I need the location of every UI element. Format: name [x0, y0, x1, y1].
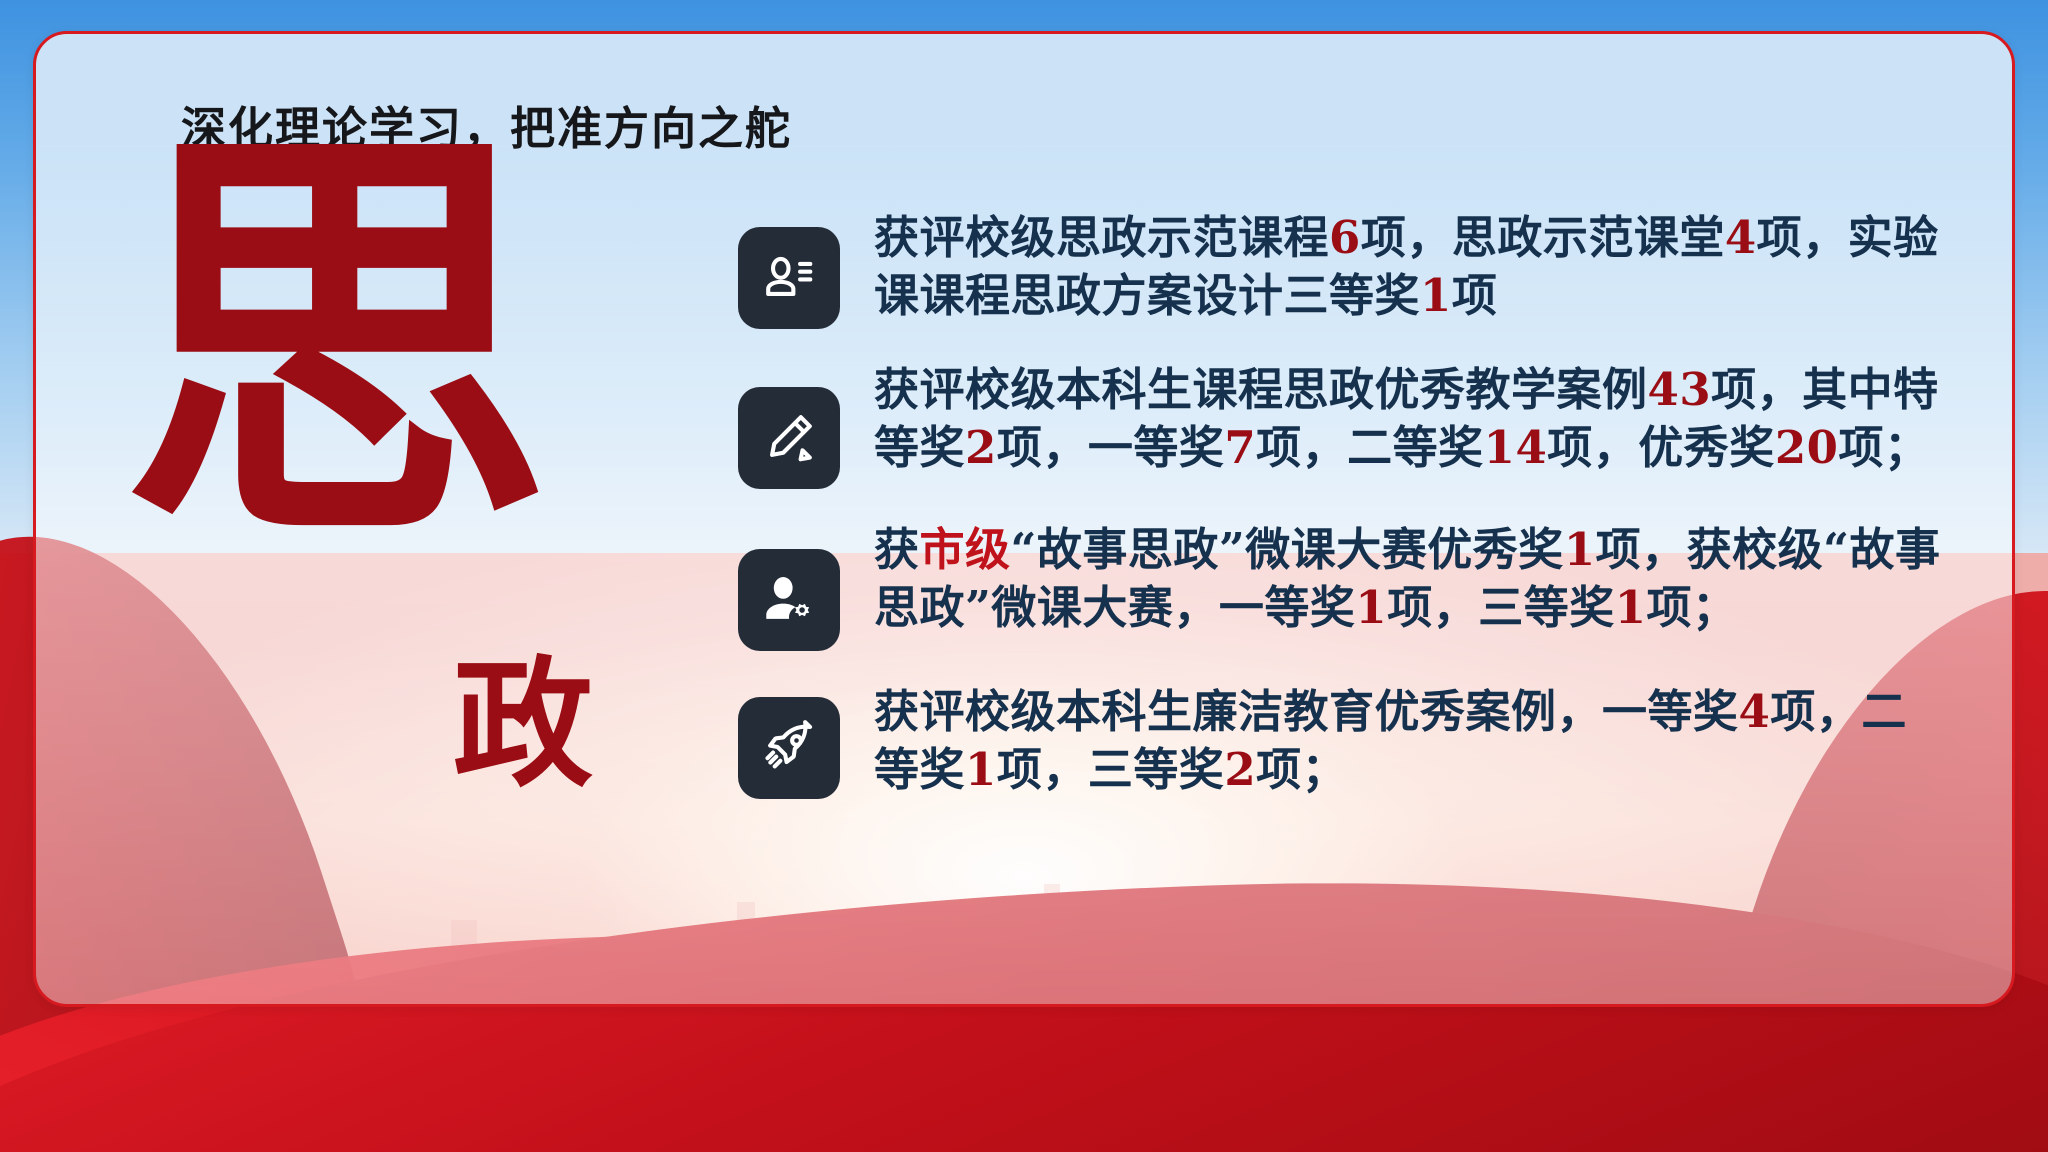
count-value: 14 [1484, 421, 1548, 474]
count-value: 4 [1725, 211, 1757, 264]
body-text: 项，优秀奖 [1547, 421, 1775, 474]
sub-character-zheng: 政 [453, 656, 593, 796]
body-text: 项，二等奖 [1256, 421, 1484, 474]
count-value: 6 [1329, 211, 1361, 264]
body-text: 项，三等奖 [997, 743, 1225, 796]
body-text: 获 [874, 523, 920, 576]
count-value: 1 [1355, 581, 1387, 634]
emphasis-text: 市级 [920, 523, 1011, 576]
body-text: “故事思政”微课大赛优秀奖 [1011, 523, 1564, 576]
rocket-icon [738, 697, 840, 799]
achievement-list: 获评校级思政示范课程6项，思政示范课堂4项，实验课课程思政方案设计三等奖1项 获… [738, 209, 1952, 799]
body-text: 获评校级本科生课程思政优秀教学案例 [874, 363, 1648, 416]
count-value: 43 [1648, 363, 1712, 416]
list-item-text: 获评校级本科生课程思政优秀教学案例43项，其中特等奖2项，一等奖7项，二等奖14… [874, 361, 1952, 476]
count-value: 4 [1739, 685, 1771, 738]
list-item-text: 获评校级思政示范课程6项，思政示范课堂4项，实验课课程思政方案设计三等奖1项 [874, 209, 1952, 324]
body-text: 项； [1256, 743, 1347, 796]
list-item: 获评校级本科生廉洁教育优秀案例，一等奖4项，二等奖1项，三等奖2项； [738, 683, 1952, 799]
body-text: 项 [1452, 269, 1498, 322]
content-card: 深化理论学习，把准方向之舵 思 政 获评校级思政示范课程6项，思政示范课堂4项，… [33, 31, 2015, 1007]
pencil-icon [738, 387, 840, 489]
count-value: 1 [1564, 523, 1596, 576]
count-value: 2 [1224, 743, 1256, 796]
count-value: 1 [1420, 269, 1452, 322]
big-character-si: 思 [121, 130, 551, 560]
list-item: 获评校级思政示范课程6项，思政示范课堂4项，实验课课程思政方案设计三等奖1项 [738, 209, 1952, 329]
decorative-characters: 思 政 [121, 164, 591, 804]
body-text: 获评校级本科生廉洁教育优秀案例，一等奖 [874, 685, 1739, 738]
list-item: 获评校级本科生课程思政优秀教学案例43项，其中特等奖2项，一等奖7项，二等奖14… [738, 361, 1952, 489]
count-value: 1 [1615, 581, 1647, 634]
user-card-icon [738, 227, 840, 329]
body-text: 项，思政示范课堂 [1361, 211, 1725, 264]
count-value: 1 [965, 743, 997, 796]
body-text: 获评校级思政示范课程 [874, 211, 1329, 264]
body-text: 项，三等奖 [1387, 581, 1615, 634]
list-item: 获市级“故事思政”微课大赛优秀奖1项，获校级“故事思政”微课大赛，一等奖1项，三… [738, 521, 1952, 651]
list-item-text: 获市级“故事思政”微课大赛优秀奖1项，获校级“故事思政”微课大赛，一等奖1项，三… [874, 521, 1952, 636]
user-settings-icon [738, 549, 840, 651]
list-item-text: 获评校级本科生廉洁教育优秀案例，一等奖4项，二等奖1项，三等奖2项； [874, 683, 1952, 798]
count-value: 7 [1224, 421, 1256, 474]
body-text: 项，一等奖 [997, 421, 1225, 474]
body-text: 项； [1838, 421, 1929, 474]
count-value: 20 [1775, 421, 1839, 474]
count-value: 2 [965, 421, 997, 474]
body-text: 项； [1647, 581, 1738, 634]
